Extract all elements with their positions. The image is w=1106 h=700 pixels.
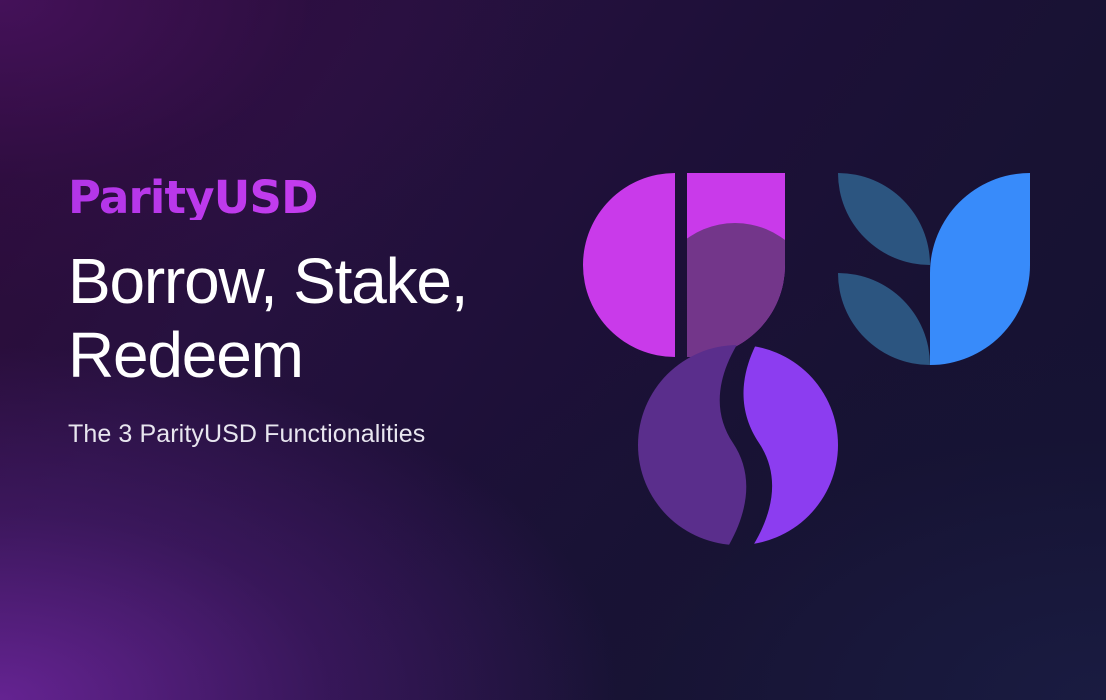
stake-leaf-upper-dark xyxy=(838,173,930,265)
illustration-svg xyxy=(575,155,1045,555)
stake-leaf-main xyxy=(930,173,1030,365)
hero-illustration xyxy=(575,155,1045,555)
stake-leaf-lower-dark xyxy=(838,273,930,365)
page-title: Borrow, Stake, Redeem xyxy=(68,244,568,392)
borrow-left-half xyxy=(583,173,675,357)
poster-canvas: ParityUSD Borrow, Stake, Redeem The 3 Pa… xyxy=(0,0,1106,700)
brand-logo-text: ParityUSD xyxy=(68,175,568,220)
redeem-wave-circle-icon xyxy=(638,335,838,555)
redeem-right-region xyxy=(744,335,839,555)
redeem-left-region xyxy=(638,335,746,555)
page-subtitle: The 3 ParityUSD Functionalities xyxy=(68,420,568,449)
stake-leaf-icon xyxy=(838,173,1030,365)
hero-text-column: ParityUSD Borrow, Stake, Redeem The 3 Pa… xyxy=(68,175,568,449)
